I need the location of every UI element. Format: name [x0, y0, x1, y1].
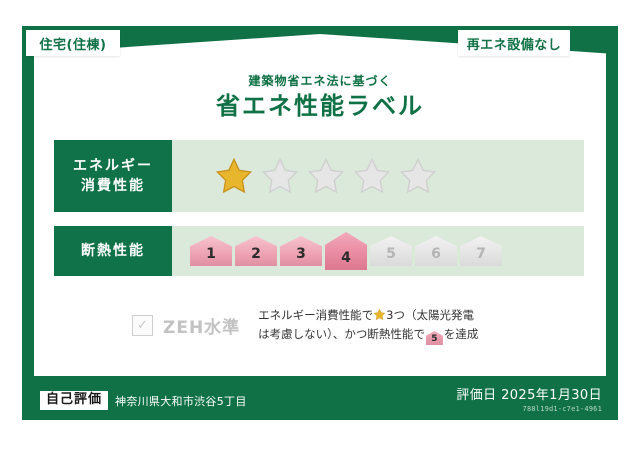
title-subtitle: 建築物省エネ法に基づく	[0, 74, 640, 88]
insulation-grade-7-number: 7	[476, 246, 486, 266]
zeh-desc-star-count: 3つ（太陽光発電	[386, 308, 474, 322]
zeh-label: ZEH水準	[163, 313, 240, 338]
footer-right: 評価日 2025年1月30日 788l19d1-c7e1-4961	[456, 388, 602, 413]
evaluation-date: 評価日 2025年1月30日	[456, 388, 602, 404]
row-energy-label: エネルギー 消費性能	[54, 140, 172, 212]
insulation-grade-1: 1	[190, 236, 232, 266]
house-icon-inline: 5	[426, 331, 443, 345]
zeh-standard-row: ✓ ZEH水準 エネルギー消費性能で3つ（太陽光発電 は考慮しない）、かつ断熱性…	[132, 306, 532, 345]
insulation-grade-4: 4	[325, 232, 367, 270]
insulation-grade-7: 7	[460, 236, 502, 266]
insulation-grade-6: 6	[415, 236, 457, 266]
row-energy-label-line1: エネルギー	[73, 156, 153, 176]
page-title: 省エネ性能ラベル	[0, 90, 640, 122]
insulation-grade-scale: 1 2 3 4 5 6 7	[172, 226, 584, 276]
energy-label-canvas: 住宅(住棟) 再エネ設備なし 建築物省エネ法に基づく 省エネ性能ラベル エネルギ…	[0, 0, 640, 452]
property-address: 神奈川県大和市渋谷5丁目	[115, 393, 247, 409]
check-icon: ✓	[137, 319, 148, 332]
insulation-grade-5: 5	[370, 236, 412, 266]
badge-renewable-energy: 再エネ設備なし	[458, 30, 570, 56]
insulation-grade-2: 2	[235, 236, 277, 266]
badge-building-type: 住宅(住棟)	[26, 30, 120, 56]
insulation-grade-2-number: 2	[251, 246, 261, 266]
row-insulation-label: 断熱性能	[54, 226, 172, 276]
insulation-grade-5-number: 5	[386, 246, 396, 266]
document-id: 788l19d1-c7e1-4961	[456, 405, 602, 413]
insulation-grade-6-number: 6	[431, 246, 441, 266]
footer-left: 自己評価 神奈川県大和市渋谷5丁目	[40, 391, 247, 410]
insulation-grade-3: 3	[280, 236, 322, 266]
zeh-desc-badge-number: 5	[426, 331, 443, 347]
insulation-grade-3-number: 3	[296, 246, 306, 266]
zeh-desc-part2: は考慮しない）、かつ断熱性能で	[258, 327, 425, 341]
row-energy-performance: エネルギー 消費性能	[54, 140, 584, 212]
zeh-checkbox[interactable]: ✓	[132, 315, 153, 336]
star-icon-2	[260, 156, 300, 196]
zeh-desc-part1: エネルギー消費性能で	[258, 308, 373, 322]
energy-star-rating	[172, 140, 584, 212]
insulation-grade-1-number: 1	[206, 246, 216, 266]
insulation-grade-4-number: 4	[341, 250, 351, 270]
self-evaluation-badge: 自己評価	[40, 391, 108, 410]
star-icon-3	[306, 156, 346, 196]
title-block: 建築物省エネ法に基づく 省エネ性能ラベル	[0, 74, 640, 123]
row-energy-label-line2: 消費性能	[81, 176, 145, 196]
row-insulation-label-line1: 断熱性能	[81, 241, 145, 261]
star-icon-4	[352, 156, 392, 196]
star-icon-5	[398, 156, 438, 196]
zeh-desc-part3: を達成	[444, 327, 479, 341]
star-icon-1	[214, 156, 254, 196]
zeh-description: エネルギー消費性能で3つ（太陽光発電 は考慮しない）、かつ断熱性能で5を達成	[258, 306, 478, 345]
star-icon-inline	[373, 308, 386, 321]
row-insulation-performance: 断熱性能 1 2 3 4 5	[54, 226, 584, 276]
